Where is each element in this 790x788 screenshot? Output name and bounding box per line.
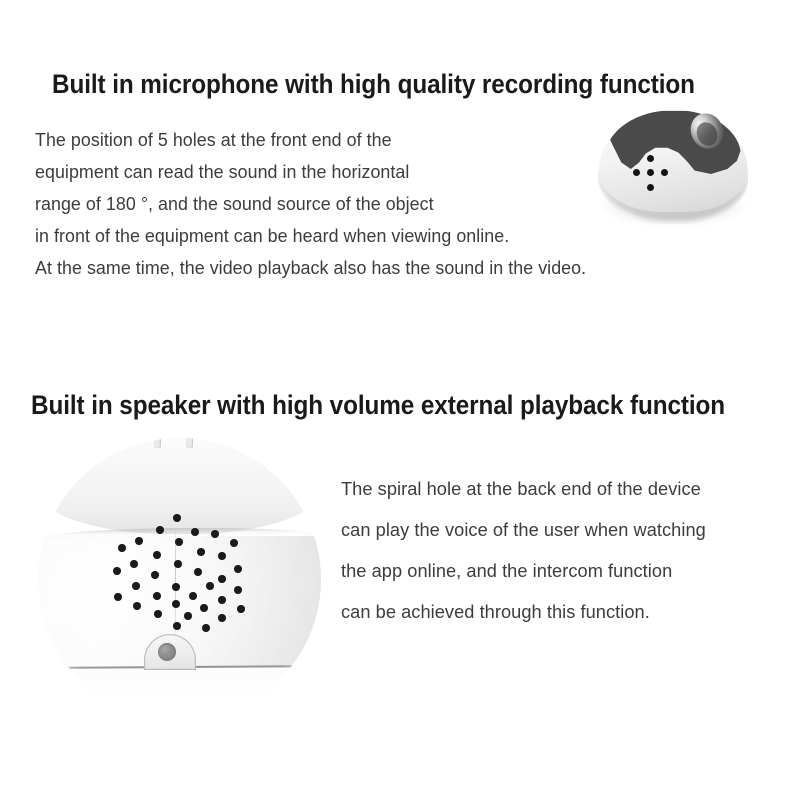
camera-back-speaker-image [38,438,321,721]
speaker-hole [197,548,205,556]
paragraph-line: can be achieved through this function. [341,591,774,632]
microphone-hole [661,169,668,176]
device-base-shade [38,668,321,721]
microphone-hole [647,155,654,162]
speaker-hole [133,602,141,610]
section-paragraph-speaker: The spiral hole at the back end of the d… [341,468,774,632]
speaker-hole [130,560,138,568]
speaker-hole [173,514,181,522]
speaker-hole [234,586,242,594]
speaker-hole [114,593,122,601]
speaker-hole [218,614,226,622]
microphone-hole [647,169,654,176]
speaker-hole [172,600,180,608]
speaker-hole [175,538,183,546]
speaker-hole [118,544,126,552]
speaker-hole [218,575,226,583]
device-notch-left [154,438,161,448]
speaker-hole [184,612,192,620]
speaker-hole [154,610,162,618]
paragraph-line: The position of 5 holes at the front end… [35,124,691,156]
paragraph-line: The spiral hole at the back end of the d… [341,468,774,509]
speaker-hole [174,560,182,568]
speaker-hole [113,567,121,575]
section-heading-microphone: Built in microphone with high quality re… [52,69,695,100]
section-heading-speaker: Built in speaker with high volume extern… [31,390,725,421]
microphone-hole [647,184,654,191]
speaker-hole [194,568,202,576]
paragraph-line: equipment can read the sound in the hori… [35,156,691,188]
device-notch-right [186,438,193,448]
speaker-hole [218,552,226,560]
camera-front-microphone-image [596,104,752,230]
paragraph-line: range of 180 °, and the sound source of … [35,188,691,220]
speaker-hole [172,583,180,591]
speaker-hole [234,565,242,573]
speaker-hole [211,530,219,538]
paragraph-line: At the same time, the video playback als… [35,252,691,284]
speaker-hole [132,582,140,590]
speaker-hole [206,582,214,590]
speaker-hole [189,592,197,600]
speaker-hole [151,571,159,579]
paragraph-line: can play the voice of the user when watc… [341,509,774,550]
speaker-hole [135,537,143,545]
speaker-hole [153,592,161,600]
speaker-hole [230,539,238,547]
paragraph-line: the app online, and the intercom functio… [341,550,774,591]
speaker-hole [173,622,181,630]
paragraph-line: in front of the equipment can be heard w… [35,220,691,252]
speaker-hole [237,605,245,613]
speaker-hole [218,596,226,604]
speaker-hole [156,526,164,534]
speaker-hole [200,604,208,612]
microphone-hole [633,169,640,176]
speaker-hole [191,528,199,536]
device-port-icon [158,643,176,661]
section-paragraph-microphone: The position of 5 holes at the front end… [35,124,691,284]
speaker-hole [153,551,161,559]
speaker-hole [202,624,210,632]
